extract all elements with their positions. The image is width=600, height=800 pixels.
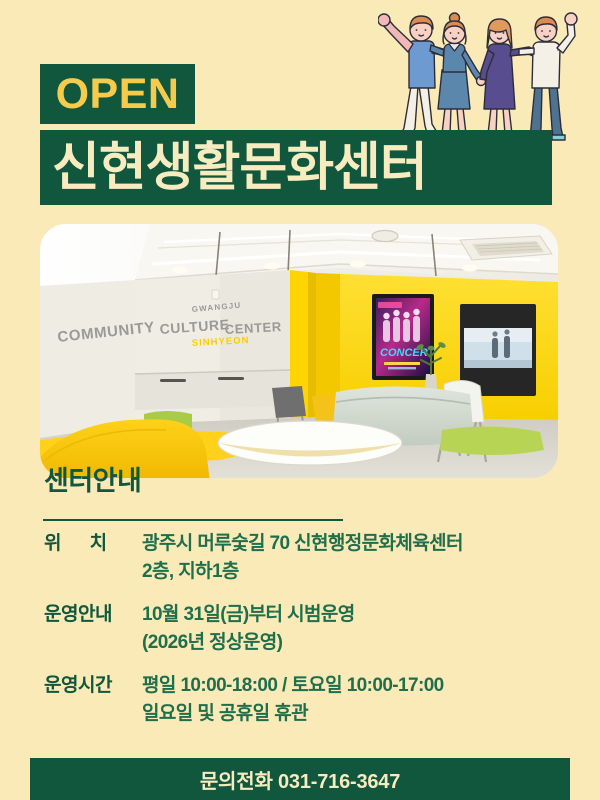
open-badge-label: OPEN: [56, 73, 180, 116]
info-label-operating-hours: 운영시간: [44, 672, 142, 700]
info-row-operating-hours: 운영시간 평일 10:00-18:00 / 토요일 10:00-17:00 일요…: [44, 672, 564, 727]
contact-footer-bar: 문의전화 031-716-3647: [30, 758, 570, 800]
info-value-operation-notice: 10월 31일(금)부터 시범운영 (2026년 정상운영): [142, 601, 355, 656]
center-info-list: 위 치 광주시 머루숯길 70 신현행정문화체육센터 2층, 지하1층 운영안내…: [44, 530, 564, 743]
info-value-operation-notice-line-2: (2026년 정상운영): [142, 629, 355, 657]
open-badge: OPEN: [40, 64, 195, 124]
info-label-location: 위 치: [44, 530, 142, 558]
info-value-location-line-1: 광주시 머루숯길 70 신현행정문화체육센터: [142, 530, 463, 558]
info-label-operation-notice: 운영안내: [44, 601, 142, 629]
info-row-location: 위 치 광주시 머루숯길 70 신현행정문화체육센터 2층, 지하1층: [44, 530, 564, 585]
svg-text:CENTER: CENTER: [224, 319, 282, 337]
info-value-operating-hours: 평일 10:00-18:00 / 토요일 10:00-17:00 일요일 및 공…: [142, 672, 444, 727]
info-value-location-line-2: 2층, 지하1층: [142, 558, 463, 586]
page-title: 신현생활문화센터: [52, 142, 427, 194]
poster-root: OPEN 신현생활문화센터: [0, 0, 600, 800]
section-heading-center-info: 센터안내: [44, 467, 141, 497]
contact-phone-text: 문의전화 031-716-3647: [200, 765, 400, 794]
info-value-operation-notice-line-1: 10월 31일(금)부터 시범운영: [142, 601, 355, 629]
info-value-location: 광주시 머루숯길 70 신현행정문화체육센터 2층, 지하1층: [142, 530, 463, 585]
section-divider: [43, 519, 343, 521]
info-row-operation-notice: 운영안내 10월 31일(금)부터 시범운영 (2026년 정상운영): [44, 601, 564, 656]
title-banner: 신현생활문화센터: [40, 130, 552, 205]
center-interior-photo: COMMUNITY CULTURE CENTER GWANGJU SINHYEO…: [40, 224, 558, 478]
info-value-operating-hours-line-1: 평일 10:00-18:00 / 토요일 10:00-17:00: [142, 672, 444, 700]
info-value-operating-hours-line-2: 일요일 및 공휴일 휴관: [142, 700, 444, 728]
